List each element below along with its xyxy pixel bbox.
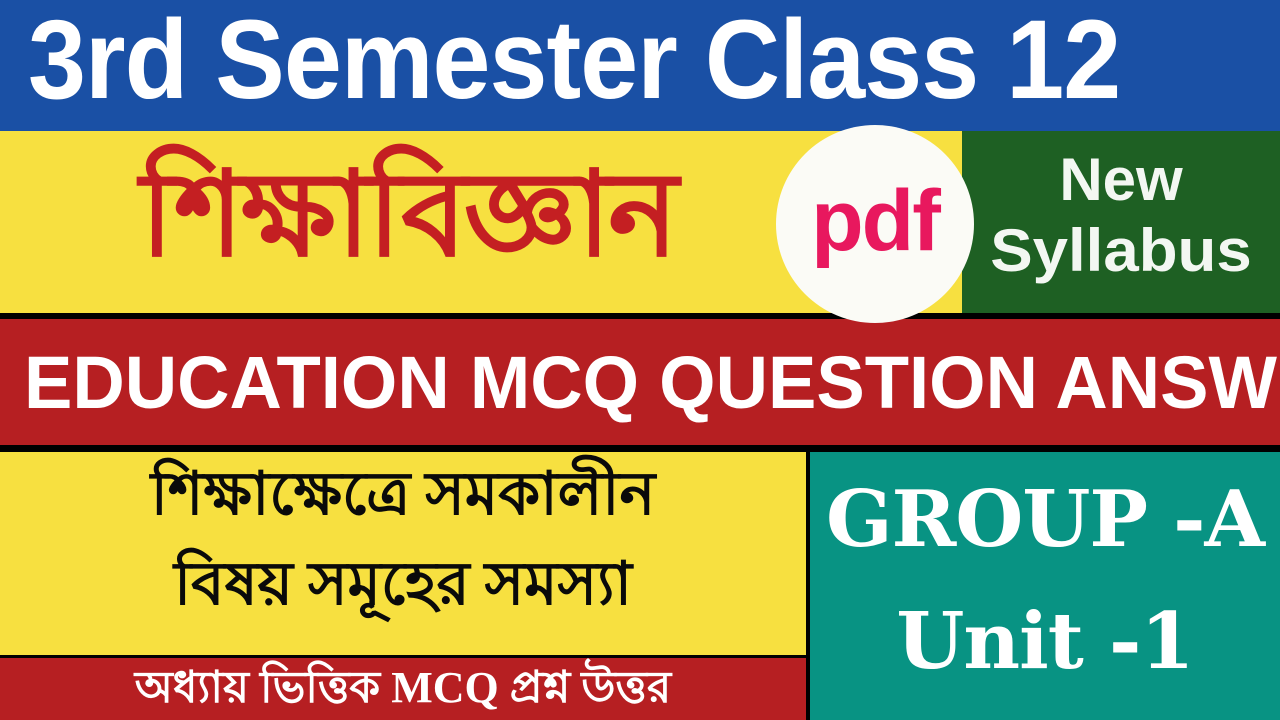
new-syllabus-line1: New <box>962 149 1280 211</box>
mcq-band-text: EDUCATION MCQ QUESTION ANSWER <box>24 339 1235 427</box>
thumbnail-canvas: 3rd Semester Class 12 শিক্ষাবিজ্ঞান pdf … <box>0 0 1280 720</box>
footer-band-text: অধ্যায় ভিত্তিক MCQ প্রশ্ন উত্তর <box>0 658 806 720</box>
group-label: GROUP -A <box>810 472 1280 568</box>
topic-band: শিক্ষাক্ষেত্রে সমকালীন বিষয় সমূহের সমস্… <box>0 452 806 655</box>
new-syllabus-line2: Syllabus <box>962 220 1280 282</box>
topic-line2: বিষয় সমূহের সমস্যা <box>0 548 806 620</box>
pdf-badge-label: pdf <box>776 169 974 273</box>
pdf-badge[interactable]: pdf <box>776 125 974 323</box>
unit-label: Unit -1 <box>810 594 1280 690</box>
mcq-band: EDUCATION MCQ QUESTION ANSWER <box>0 319 1280 445</box>
group-unit-panel: GROUP -A Unit -1 <box>810 452 1280 720</box>
subject-title-bengali: শিক্ষাবিজ্ঞান <box>140 141 780 313</box>
page-title: 3rd Semester Class 12 <box>28 0 1120 124</box>
footer-band: অধ্যায় ভিত্তিক MCQ প্রশ্ন উত্তর <box>0 658 806 720</box>
subject-band: শিক্ষাবিজ্ঞান pdf New Syllabus <box>0 131 1280 313</box>
topic-line1: শিক্ষাক্ষেত্রে সমকালীন <box>0 458 806 530</box>
header-band: 3rd Semester Class 12 <box>0 0 1280 131</box>
new-syllabus-panel: New Syllabus <box>962 131 1280 313</box>
